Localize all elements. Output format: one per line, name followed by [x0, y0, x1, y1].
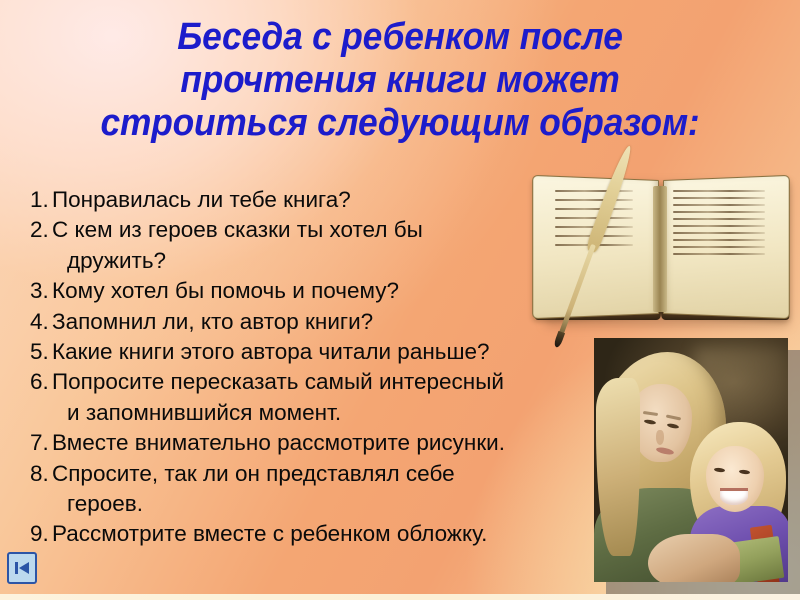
- list-item-number: 2.: [30, 215, 52, 245]
- list-item-text-continuation: героев.: [52, 489, 590, 519]
- list-item: 4.Запомнил ли, кто автор книги?: [30, 307, 590, 337]
- list-item: 5.Какие книги этого автора читали раньше…: [30, 337, 590, 367]
- list-item-text: С кем из героев сказки ты хотел бы: [52, 217, 423, 242]
- list-item-text: Запомнил ли, кто автор книги?: [52, 309, 373, 334]
- list-item-text: Понравилась ли тебе книга?: [52, 187, 351, 212]
- list-item-text: Попросите пересказать самый интересный: [52, 369, 504, 394]
- list-item-number: 8.: [30, 459, 52, 489]
- list-item-text: Вместе внимательно рассмотрите рисунки.: [52, 430, 505, 455]
- bottom-strip: [0, 594, 800, 600]
- list-item: 1.Понравилась ли тебе книга?: [30, 185, 590, 215]
- list-item: 7.Вместе внимательно рассмотрите рисунки…: [30, 428, 590, 458]
- slide-canvas: Беседа с ребенком после прочтения книги …: [0, 0, 800, 600]
- list-item-text-continuation: дружить?: [52, 246, 590, 276]
- list-item-number: 1.: [30, 185, 52, 215]
- list-item-text: Спросите, так ли он представлял себе: [52, 461, 455, 486]
- list-item-text: Кому хотел бы помочь и почему?: [52, 278, 399, 303]
- list-item-text: Рассмотрите вместе с ребенком обложку.: [52, 521, 487, 546]
- list-item: 6.Попросите пересказать самый интересный…: [30, 367, 590, 428]
- mother-and-daughter-reading-photo: [594, 338, 800, 594]
- list-item: 2.С кем из героев сказки ты хотел быдруж…: [30, 215, 590, 276]
- list-item: 8.Спросите, так ли он представлял себеге…: [30, 459, 590, 520]
- handwriting-lines-right: [673, 190, 765, 282]
- list-item-number: 3.: [30, 276, 52, 306]
- list-item-number: 6.: [30, 367, 52, 397]
- list-item-text-continuation: и запомнившийся момент.: [52, 398, 590, 428]
- list-item-number: 4.: [30, 307, 52, 337]
- mother-hair-front: [596, 378, 640, 556]
- book-spine: [653, 186, 667, 312]
- first-slide-icon: [14, 560, 30, 576]
- list-item: 3.Кому хотел бы помочь и почему?: [30, 276, 590, 306]
- list-item-number: 9.: [30, 519, 52, 549]
- mother-arm: [648, 534, 740, 582]
- mother-nose: [656, 430, 664, 445]
- first-slide-button[interactable]: [7, 552, 37, 584]
- list-item-number: 7.: [30, 428, 52, 458]
- child-mouth: [720, 488, 748, 505]
- list-item-text: Какие книги этого автора читали раньше?: [52, 339, 490, 364]
- list-item-number: 5.: [30, 337, 52, 367]
- page-title: Беседа с ребенком после прочтения книги …: [47, 16, 754, 145]
- photo-frame: [594, 338, 788, 582]
- question-list: 1.Понравилась ли тебе книга?2.С кем из г…: [30, 185, 590, 550]
- list-item: 9.Рассмотрите вместе с ребенком обложку.: [30, 519, 590, 549]
